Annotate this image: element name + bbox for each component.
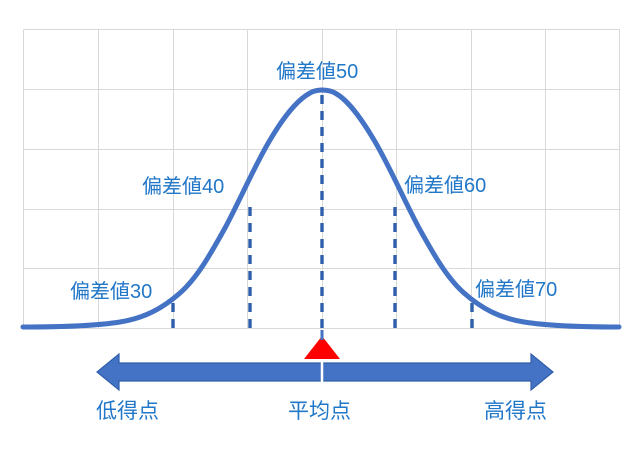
axis-label-average-score: 平均点 xyxy=(288,400,351,423)
axis-label-low-score: 低得点 xyxy=(96,400,159,423)
deviation-label-70: 偏差値70 xyxy=(475,279,557,301)
deviation-label-60: 偏差値60 xyxy=(404,175,486,197)
deviation-value-bell-curve-figure: 偏差値30 偏差値40 偏差値50 偏差値60 偏差値70 低得点 平均点 高得… xyxy=(0,0,640,457)
deviation-label-50: 偏差値50 xyxy=(276,61,358,83)
score-range-double-arrow xyxy=(97,354,553,390)
deviation-label-40: 偏差値40 xyxy=(142,176,224,198)
deviation-label-30: 偏差値30 xyxy=(70,281,152,303)
axis-label-high-score: 高得点 xyxy=(484,400,547,423)
